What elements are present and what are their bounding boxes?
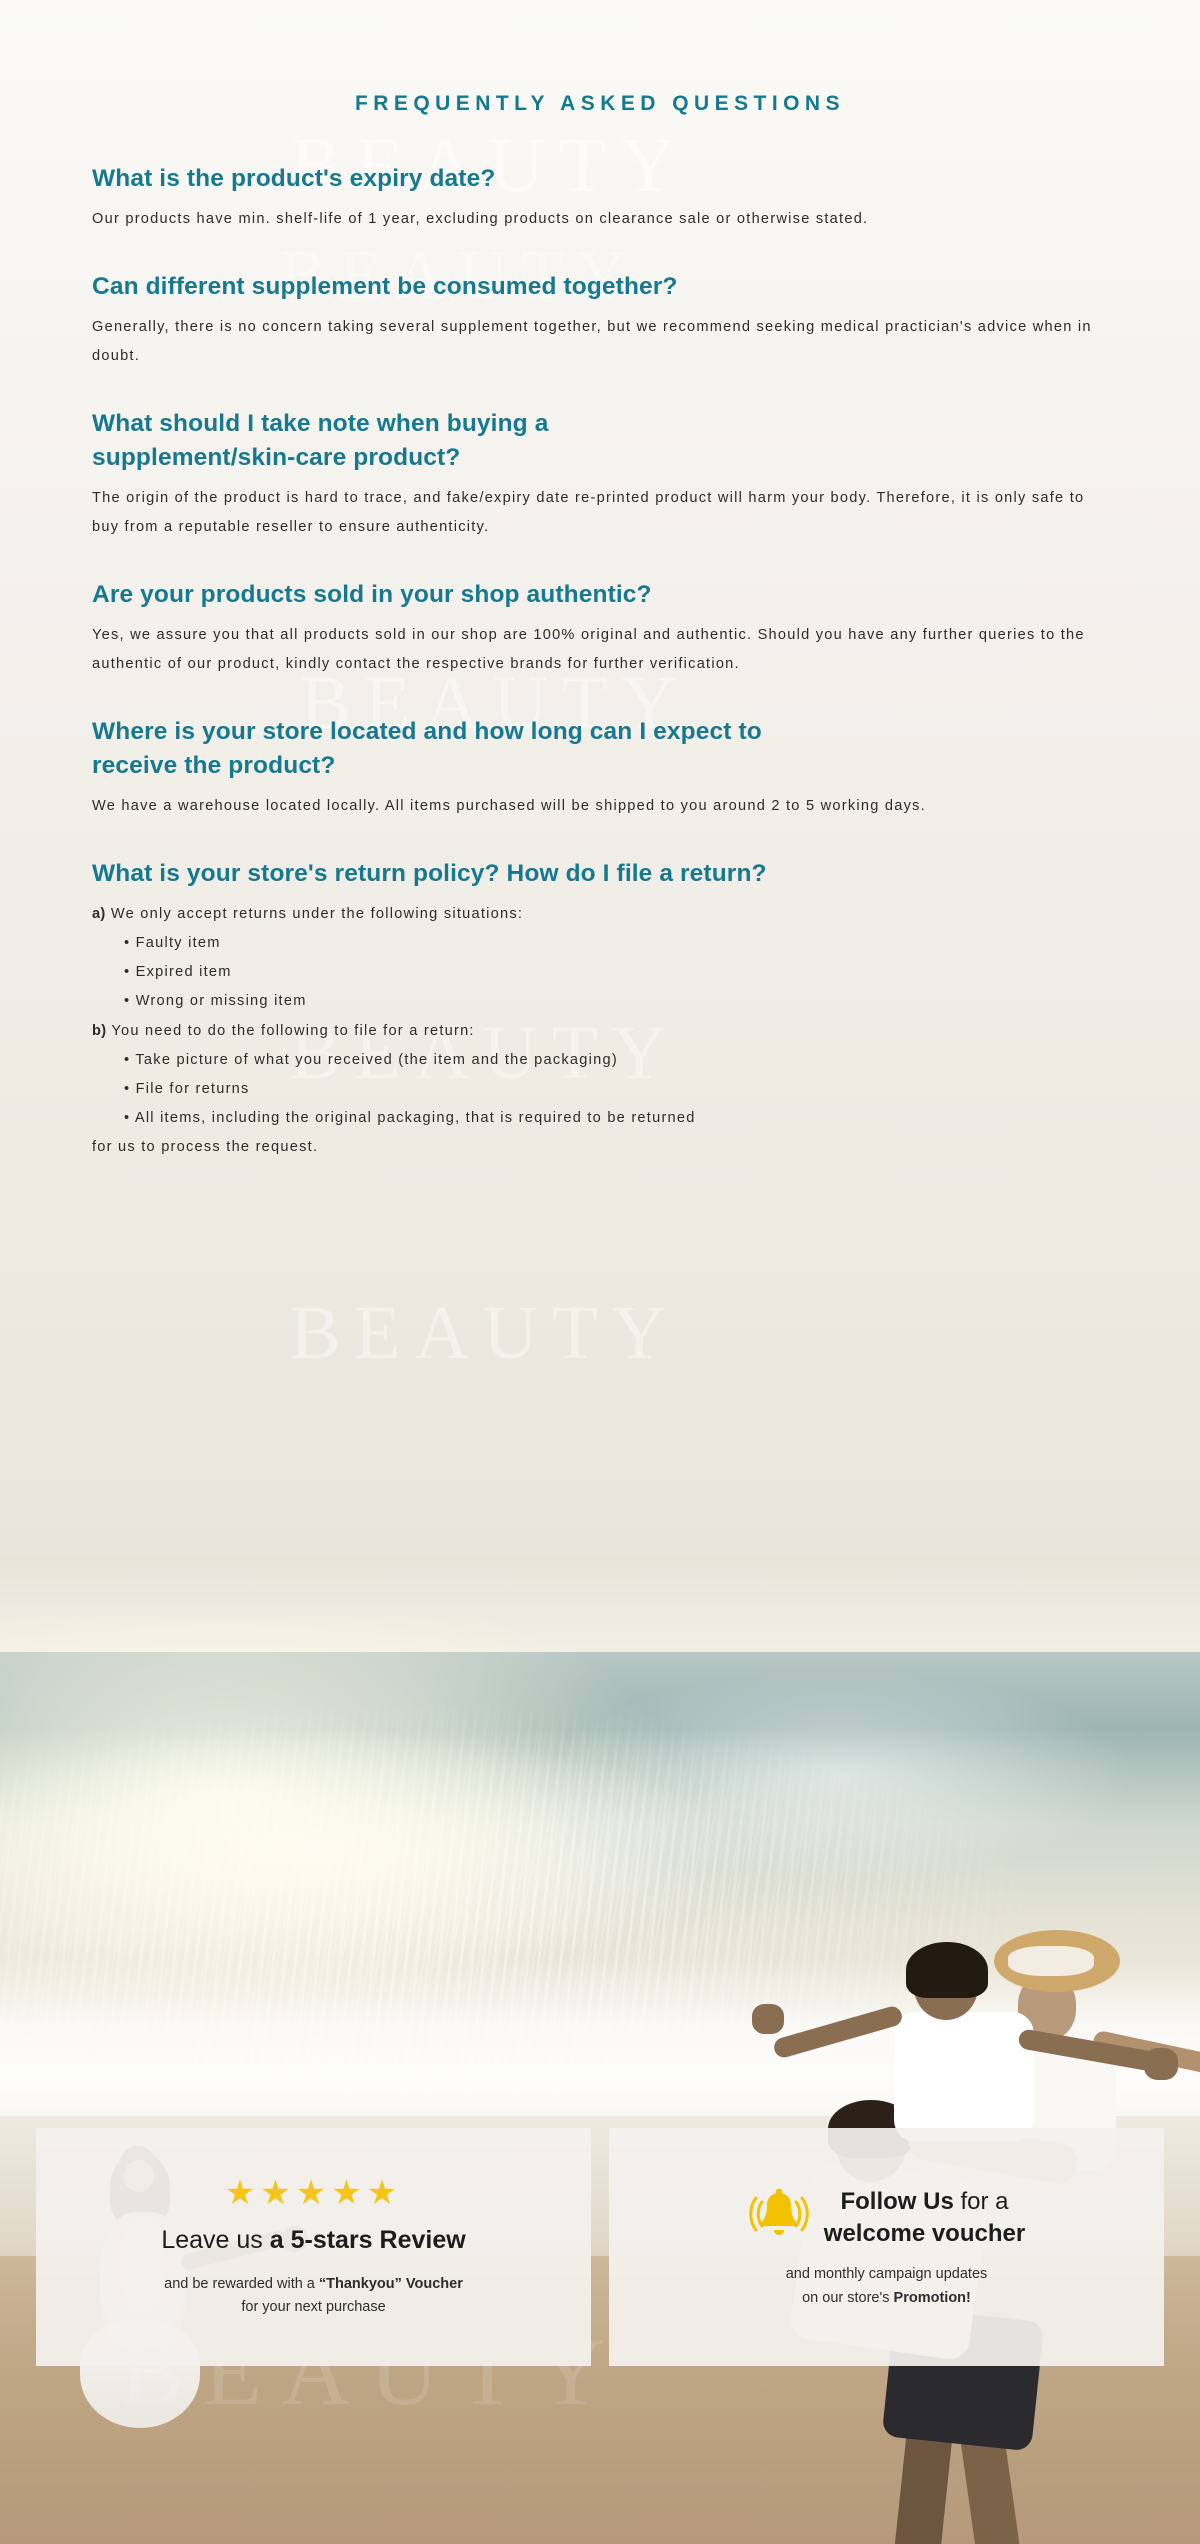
list-item: • All items, including the original pack…	[92, 1104, 1108, 1133]
follow-sub-line1: and monthly campaign updates	[786, 2266, 988, 2282]
list-item: • File for returns	[92, 1075, 1108, 1104]
faq-question: Are your products sold in your shop auth…	[92, 578, 1108, 612]
faq-section: FREQUENTLY ASKED QUESTIONS What is the p…	[0, 0, 1200, 1163]
page-title: FREQUENTLY ASKED QUESTIONS	[92, 0, 1108, 126]
follow-card[interactable]: Follow Us for a welcome voucher and mont…	[609, 2128, 1164, 2366]
follow-card-headline: Follow Us for a welcome voucher	[824, 2186, 1025, 2248]
faq-question: Where is your store located and how long…	[92, 715, 792, 783]
follow-headline-bold2: welcome voucher	[824, 2220, 1025, 2247]
review-sub-line2: for your next purchase	[241, 2299, 385, 2315]
review-sub-bold: “Thankyou” Voucher	[319, 2276, 463, 2292]
return-policy-item-a: a) We only accept returns under the foll…	[92, 900, 1108, 929]
follow-card-sub: and monthly campaign updates on our stor…	[786, 2263, 988, 2310]
review-card-sub: and be rewarded with a “Thankyou” Vouche…	[164, 2273, 463, 2320]
faq-question: Can different supplement be consumed tog…	[92, 270, 1108, 304]
return-policy-list: a) We only accept returns under the foll…	[92, 900, 1108, 1163]
list-label-b: b)	[92, 1023, 106, 1039]
review-sub-plain: and be rewarded with a	[164, 2276, 319, 2292]
review-headline-plain: Leave us	[161, 2226, 269, 2254]
faq-answer: Our products have min. shelf-life of 1 y…	[92, 205, 1108, 234]
faq-answer: Generally, there is no concern taking se…	[92, 313, 1108, 371]
review-headline-bold: a 5-stars Review	[270, 2226, 466, 2254]
return-policy-item-b: b) You need to do the following to file …	[92, 1017, 1108, 1046]
faq-item-return-policy: What is your store's return policy? How …	[92, 857, 1108, 1162]
follow-sub-line2-plain: on our store's	[802, 2290, 893, 2306]
faq-item-5: Where is your store located and how long…	[92, 715, 1108, 821]
list-text-b: You need to do the following to file for…	[111, 1023, 474, 1039]
review-card-headline: Leave us a 5-stars Review	[161, 2224, 465, 2257]
list-label-a: a)	[92, 906, 106, 922]
star-rating-icon: ★★★★★	[225, 2176, 402, 2210]
faq-answer: We have a warehouse located locally. All…	[92, 792, 1108, 821]
list-item: • Faulty item	[92, 929, 1108, 958]
faq-question: What is your store's return policy? How …	[92, 857, 1108, 891]
return-policy-tail: for us to process the request.	[92, 1133, 1108, 1162]
review-card[interactable]: ★★★★★ Leave us a 5-stars Review and be r…	[36, 2128, 591, 2366]
faq-answer: Yes, we assure you that all products sol…	[92, 621, 1108, 679]
list-item: • Expired item	[92, 958, 1108, 987]
faq-question: What is the product's expiry date?	[92, 162, 1108, 196]
watermark-beauty-5: BEAUTY	[290, 1290, 680, 1377]
faq-item-3: What should I take note when buying a su…	[92, 407, 1108, 542]
faq-page: BEAUTY BEAUTY BEAUTY BEAUTY BEAUTY FREQU…	[0, 0, 1200, 2544]
follow-sub-line2-bold: Promotion!	[894, 2290, 971, 2306]
bell-icon	[748, 2186, 810, 2249]
follow-headline-plain1: for a	[954, 2188, 1009, 2215]
faq-answer: The origin of the product is hard to tra…	[92, 484, 1108, 542]
list-item: • Wrong or missing item	[92, 987, 1108, 1016]
promo-cards: ★★★★★ Leave us a 5-stars Review and be r…	[0, 2128, 1200, 2366]
faq-question: What should I take note when buying a su…	[92, 407, 612, 475]
list-text-a: We only accept returns under the followi…	[111, 906, 523, 922]
faq-item-4: Are your products sold in your shop auth…	[92, 578, 1108, 679]
list-item: • Take picture of what you received (the…	[92, 1046, 1108, 1075]
follow-card-headline-row: Follow Us for a welcome voucher	[748, 2186, 1025, 2249]
faq-item-1: What is the product's expiry date? Our p…	[92, 162, 1108, 234]
follow-headline-bold1: Follow Us	[840, 2188, 953, 2215]
faq-item-2: Can different supplement be consumed tog…	[92, 270, 1108, 371]
photo-sun-glow	[0, 1616, 680, 2036]
beach-family-photo: BEAUTY	[0, 1556, 1200, 2544]
